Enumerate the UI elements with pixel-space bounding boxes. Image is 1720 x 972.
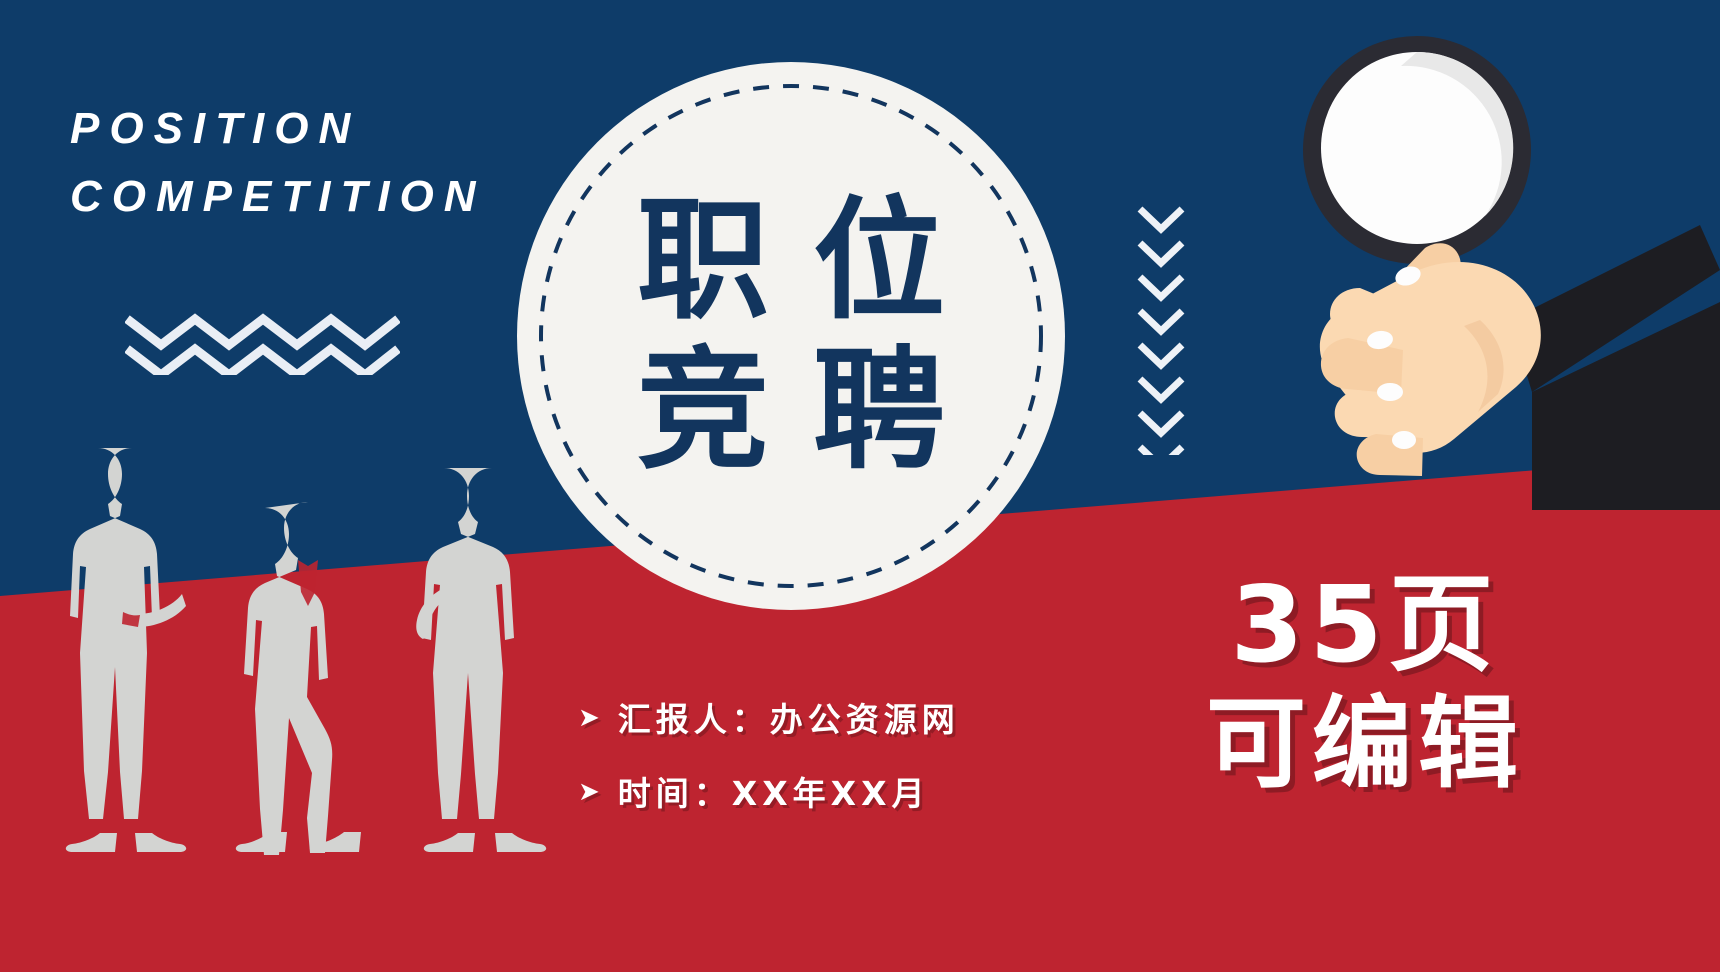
main-title: 职位 竞聘 [517, 62, 1065, 610]
main-title-line2: 竞聘 [593, 336, 989, 486]
english-heading: POSITION COMPETITION [70, 95, 486, 231]
zigzag-decoration-icon [125, 305, 400, 375]
english-heading-line1: POSITION [70, 104, 360, 153]
english-heading-line2: COMPETITION [70, 163, 486, 231]
pages-editable: 可编辑 [1155, 685, 1575, 803]
pages-badge: 35页 可编辑 [1155, 565, 1575, 803]
pages-count: 35页 [1155, 565, 1575, 685]
bullet-text-date: 时间：XX年XX月 [618, 767, 930, 815]
bullet-arrow-icon: ➤ [578, 778, 600, 804]
business-people-silhouettes [40, 440, 580, 870]
bullet-text-presenter: 汇报人：办公资源网 [618, 693, 960, 741]
bullet-item-presenter: ➤ 汇报人：办公资源网 [578, 693, 1098, 741]
hand-icon [1320, 243, 1541, 476]
magnifying-glass-in-hand [1180, 20, 1720, 510]
slide-canvas: POSITION COMPETITION 职位 [0, 0, 1720, 972]
bullet-list: ➤ 汇报人：办公资源网 ➤ 时间：XX年XX月 [578, 693, 1098, 841]
bullet-item-date: ➤ 时间：XX年XX月 [578, 767, 1098, 815]
main-title-line1: 职位 [593, 186, 989, 336]
bullet-arrow-icon: ➤ [578, 704, 600, 730]
